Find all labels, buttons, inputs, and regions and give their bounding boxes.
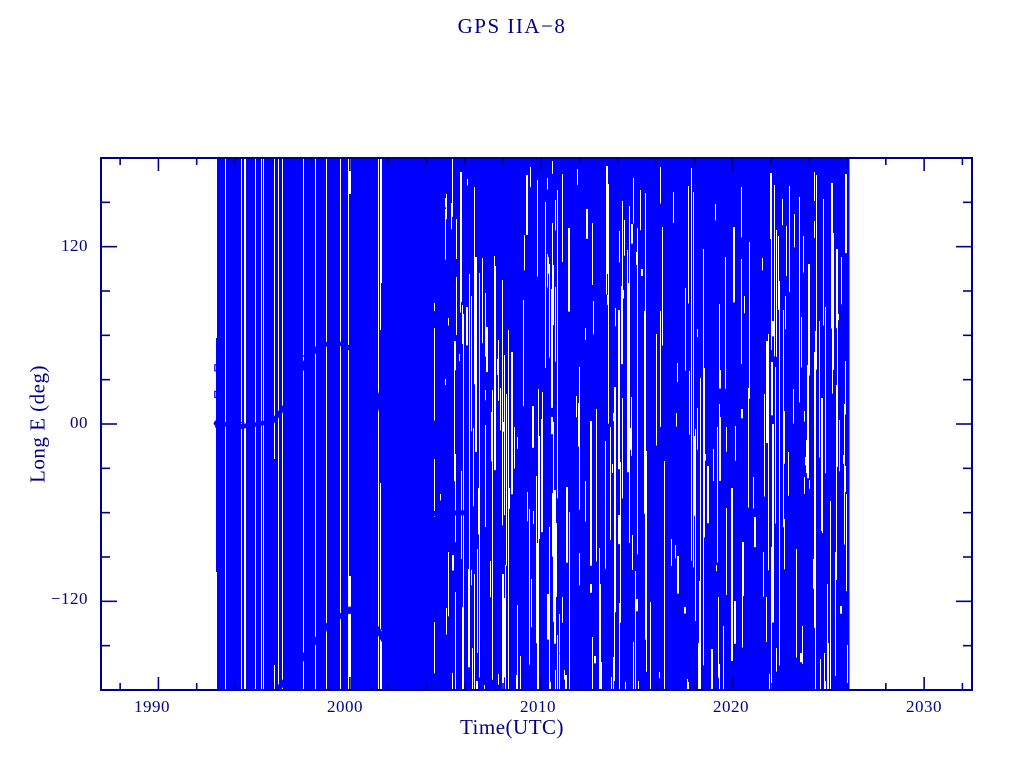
wrap-gap <box>472 648 473 690</box>
wrap-gap <box>615 308 616 326</box>
wrap-gap-long <box>492 390 493 680</box>
wrap-gap <box>726 508 727 595</box>
wrap-gap <box>689 371 690 435</box>
wrap-gap <box>784 411 785 464</box>
wrap-gap <box>577 169 578 185</box>
plot-canvas: GPS IIA−8 Long E (deg) Time(UTC) 120 00 … <box>0 0 1024 768</box>
wrap-gap <box>474 187 475 384</box>
wrap-gap <box>718 597 719 678</box>
wrap-gap <box>835 552 836 676</box>
wrap-gap <box>448 318 449 325</box>
wrap-gap <box>445 198 446 207</box>
wrap-gap <box>753 477 754 509</box>
wrap-gap <box>445 211 446 235</box>
wrap-stroke <box>330 158 331 690</box>
wrap-gap <box>741 409 743 418</box>
wrap-gap <box>562 597 563 623</box>
wrap-gap <box>618 515 620 544</box>
wrap-gap <box>502 574 504 690</box>
wrap-gap <box>809 480 810 489</box>
wrap-gap <box>562 174 563 262</box>
wrap-stroke-cluster <box>290 158 291 690</box>
wrap-gap-long <box>700 378 701 606</box>
wrap-gap <box>547 594 549 640</box>
wrap-stroke-cluster <box>320 158 321 690</box>
wrap-stroke <box>336 158 338 690</box>
wrap-stroke-cluster <box>298 158 299 690</box>
wrap-gap <box>656 334 657 445</box>
wrap-gap <box>772 321 774 336</box>
wrap-stroke-cluster <box>424 158 426 690</box>
wrap-stroke <box>334 429 335 690</box>
wrap-gap <box>586 209 588 239</box>
wrap-gap <box>611 677 612 690</box>
wrap-gap <box>448 552 449 616</box>
wrap-gap <box>551 417 553 434</box>
wrap-gap <box>660 167 661 204</box>
wrap-gap <box>662 227 663 327</box>
wrap-stroke <box>302 158 303 690</box>
wrap-gap-long <box>471 296 472 431</box>
wrap-gap <box>593 301 594 334</box>
wrap-gap <box>467 179 468 185</box>
wrap-gap <box>619 603 620 690</box>
wrap-gap <box>554 490 556 644</box>
wrap-gap-long <box>779 281 780 666</box>
wrap-stroke-cluster <box>428 158 429 690</box>
wrap-stroke-cluster <box>286 158 287 690</box>
wrap-gap <box>594 656 596 663</box>
wrap-gap <box>516 675 517 690</box>
wrap-gap <box>494 256 495 320</box>
wrap-stroke-cluster <box>400 158 401 690</box>
wrap-gap <box>719 664 720 690</box>
wrap-gap <box>632 535 633 570</box>
wrap-gap <box>497 359 498 375</box>
wrap-stroke-cluster <box>415 158 416 690</box>
wrap-gap-long <box>783 310 784 527</box>
wrap-gap <box>514 427 515 469</box>
wrap-stroke <box>349 194 351 576</box>
wrap-stroke <box>426 158 427 690</box>
wrap-gap <box>559 654 560 690</box>
wrap-gap <box>434 622 435 673</box>
wrap-stroke <box>414 158 415 690</box>
wrap-gap <box>434 459 435 517</box>
wrap-gap <box>485 425 486 527</box>
wrap-stroke <box>308 158 310 690</box>
wrap-stroke-cluster <box>396 158 397 690</box>
wrap-stroke <box>321 342 322 557</box>
wrap-gap <box>614 657 615 672</box>
wrap-stroke <box>341 158 342 690</box>
wrap-gap <box>506 394 507 566</box>
wrap-gap-long <box>463 314 464 690</box>
wrap-stroke-cluster <box>422 158 423 690</box>
wrap-gap <box>633 642 634 690</box>
wrap-stroke <box>343 158 344 690</box>
wrap-gap <box>733 227 735 302</box>
wrap-gap <box>813 559 814 589</box>
wrap-gap <box>553 422 554 622</box>
wrap-gap-long <box>629 206 630 543</box>
wrap-gap <box>585 481 586 521</box>
wrap-gap-long <box>645 193 646 640</box>
wrap-gap <box>445 379 446 385</box>
wrap-gap <box>474 574 475 690</box>
wrap-gap <box>771 565 772 690</box>
wrap-gap <box>754 517 756 547</box>
wrap-stroke-cluster <box>404 158 405 690</box>
wrap-gap <box>569 512 570 690</box>
wrap-gap-long <box>538 389 539 690</box>
wrap-stroke-cluster <box>270 158 271 690</box>
wrap-gap <box>806 440 808 473</box>
wrap-stroke <box>335 158 336 690</box>
wrap-gap <box>712 668 713 690</box>
wrap-stroke <box>358 467 359 690</box>
wrap-stroke <box>277 158 278 690</box>
wrap-gap <box>549 527 550 690</box>
wrap-gap-long <box>768 334 769 570</box>
wrap-gap <box>537 180 538 277</box>
wrap-stroke <box>287 158 288 690</box>
wrap-stroke-cluster <box>312 158 313 690</box>
wrap-gap <box>833 233 834 370</box>
wrap-gap-long <box>479 273 480 677</box>
wrap-stroke-cluster <box>423 158 424 690</box>
wrap-gap <box>504 355 505 515</box>
wrap-stroke <box>306 316 307 690</box>
wrap-stroke-cluster <box>271 158 272 690</box>
wrap-gap <box>452 158 453 217</box>
wrap-gap <box>469 274 470 452</box>
wrap-stroke-cluster <box>311 158 312 690</box>
wrap-stroke <box>328 158 329 690</box>
wrap-gap <box>799 197 800 304</box>
wrap-gap <box>517 437 518 449</box>
wrap-gap <box>766 341 768 443</box>
wrap-stroke <box>216 338 217 572</box>
wrap-gap <box>841 257 842 304</box>
wrap-stroke <box>379 158 380 690</box>
wrap-gap <box>578 403 580 446</box>
wrap-gap <box>526 175 528 235</box>
wrap-gap <box>556 523 557 597</box>
wrap-stroke-cluster <box>313 158 314 690</box>
wrap-gap <box>749 242 750 399</box>
wrap-gap <box>537 543 538 690</box>
wrap-stroke <box>281 158 282 690</box>
wrap-stroke-cluster <box>413 158 414 690</box>
wrap-gap <box>820 672 821 690</box>
wrap-gap <box>784 519 785 569</box>
wrap-gap <box>460 301 461 313</box>
wrap-gap <box>527 492 528 521</box>
wrap-gap <box>845 361 846 414</box>
wrap-gap <box>771 278 772 289</box>
wrap-gap <box>606 205 607 294</box>
wrap-gap <box>460 172 462 302</box>
wrap-stroke-cluster <box>285 158 286 690</box>
wrap-gap <box>717 427 718 562</box>
wrap-stroke <box>345 454 347 690</box>
wrap-gap <box>819 321 820 458</box>
wrap-gap <box>816 175 817 370</box>
wrap-stroke <box>310 158 311 690</box>
wrap-gap <box>446 608 447 635</box>
wrap-gap <box>830 501 831 690</box>
wrap-stroke-cluster <box>418 158 419 690</box>
wrap-gap <box>619 231 620 263</box>
wrap-stroke-cluster <box>322 158 323 690</box>
wrap-gap <box>434 303 435 311</box>
wrap-stroke <box>372 158 373 690</box>
wrap-gap <box>568 228 570 312</box>
wrap-gap <box>716 565 717 571</box>
wrap-gap <box>832 227 833 394</box>
wrap-gap <box>785 296 786 329</box>
wrap-gap <box>804 411 805 421</box>
wrap-gap <box>478 488 479 534</box>
wrap-gap <box>579 553 580 585</box>
wrap-gap <box>837 276 838 467</box>
wrap-gap <box>719 370 721 389</box>
wrap-gap <box>664 608 665 690</box>
wrap-gap <box>555 200 556 230</box>
wrap-gap-long <box>693 192 694 567</box>
wrap-gap <box>741 259 742 364</box>
wrap-gap <box>762 258 763 270</box>
wrap-gap <box>533 511 534 524</box>
wrap-gap <box>802 626 803 664</box>
wrap-gap-long <box>814 352 815 628</box>
wrap-gap <box>471 570 472 585</box>
wrap-gap <box>713 449 714 481</box>
wrap-stroke <box>299 272 300 690</box>
wrap-stroke <box>370 158 371 690</box>
wrap-stroke <box>333 158 334 690</box>
wrap-gap <box>452 673 453 690</box>
wrap-stroke-cluster <box>323 158 324 690</box>
wrap-gap <box>684 607 686 614</box>
wrap-gap <box>827 674 828 690</box>
wrap-gap <box>778 236 779 310</box>
wrap-stroke-cluster <box>393 158 394 690</box>
wrap-gap <box>662 325 663 346</box>
wrap-gap <box>607 295 608 305</box>
wrap-gap <box>793 389 794 423</box>
wrap-gap <box>503 422 504 432</box>
wrap-stroke <box>339 158 340 690</box>
wrap-stroke <box>279 158 280 690</box>
wrap-gap <box>555 670 556 690</box>
wrap-gap <box>742 542 744 596</box>
wrap-gap <box>676 413 677 427</box>
wrap-gap <box>434 335 435 355</box>
wrap-gap <box>764 394 765 497</box>
wrap-gap <box>640 190 641 230</box>
wrap-gap-long <box>836 385 837 580</box>
wrap-gap <box>789 186 790 292</box>
wrap-gap <box>677 363 678 382</box>
wrap-stroke <box>325 158 326 690</box>
wrap-gap <box>659 672 660 678</box>
wrap-gap <box>590 584 592 593</box>
wrap-gap <box>456 219 457 259</box>
wrap-stroke <box>338 158 339 690</box>
wrap-gap <box>805 457 806 465</box>
wrap-stroke-cluster <box>293 158 294 690</box>
wrap-gap <box>511 352 513 494</box>
wrap-gap <box>698 643 699 690</box>
wrap-gap <box>734 601 736 644</box>
wrap-gap-long <box>815 331 816 690</box>
wrap-stroke-cluster <box>395 158 396 690</box>
wrap-gap-long <box>775 367 776 524</box>
wrap-gap <box>631 397 632 456</box>
wrap-gap <box>618 310 620 469</box>
wrap-stroke <box>374 158 375 690</box>
wrap-gap <box>557 635 558 690</box>
wrap-gap <box>476 681 478 690</box>
wrap-gap <box>769 674 770 690</box>
wrap-gap <box>531 579 532 627</box>
wrap-gap <box>590 421 592 566</box>
wrap-gap <box>624 220 625 256</box>
wrap-stroke-cluster <box>427 158 428 690</box>
wrap-gap <box>671 539 672 566</box>
wrap-gap <box>542 392 543 504</box>
wrap-gap <box>509 488 510 509</box>
wrap-gap <box>446 194 447 219</box>
wrap-gap <box>482 258 483 343</box>
wrap-stroke-cluster <box>289 158 290 690</box>
wrap-stroke <box>274 459 275 665</box>
wrap-gap <box>552 493 553 557</box>
wrap-gap <box>677 556 679 594</box>
wrap-stroke <box>364 158 365 690</box>
wrap-gap <box>636 599 638 611</box>
wrap-stroke <box>331 469 332 638</box>
wrap-gap <box>459 354 460 361</box>
wrap-gap <box>548 257 549 274</box>
wrap-gap <box>565 675 567 690</box>
wrap-stroke-cluster <box>296 158 297 690</box>
wrap-stroke-cluster <box>295 158 296 690</box>
wrap-gap <box>633 178 634 223</box>
wrap-gap <box>744 296 745 313</box>
wrap-gap <box>627 250 628 320</box>
wrap-stroke <box>324 470 325 690</box>
wrap-stroke-cluster <box>288 158 289 690</box>
wrap-gap <box>786 226 787 276</box>
wrap-gap <box>726 427 727 452</box>
wrap-gap <box>772 457 773 577</box>
wrap-gap <box>650 602 651 690</box>
wrap-gap <box>475 257 477 452</box>
wrap-gap <box>731 488 733 661</box>
wrap-stroke <box>363 158 364 690</box>
wrap-stroke-cluster <box>411 158 412 690</box>
wrap-stroke-cluster <box>316 158 318 690</box>
wrap-gap <box>814 221 815 238</box>
wrap-gap <box>695 429 696 621</box>
wrap-gap <box>646 451 647 569</box>
wrap-stroke-cluster <box>421 158 422 690</box>
wrap-gap-long <box>552 223 553 403</box>
wrap-stroke <box>365 158 366 690</box>
wrap-stroke-cluster <box>273 158 274 690</box>
wrap-gap <box>545 202 546 368</box>
wrap-gap <box>688 186 689 303</box>
wrap-gap <box>596 409 597 561</box>
wrap-gap <box>592 223 593 285</box>
wrap-gap <box>466 307 468 345</box>
wrap-gap <box>735 426 736 461</box>
wrap-gap <box>776 648 777 672</box>
wrap-stroke <box>344 158 345 690</box>
wrap-gap <box>828 643 829 690</box>
wrap-gap-long <box>691 168 692 561</box>
wrap-gap <box>838 314 839 320</box>
wrap-gap <box>697 420 698 450</box>
wrap-gap <box>821 398 823 531</box>
wrap-gap <box>566 487 568 563</box>
wrap-gap <box>530 167 531 187</box>
wrap-gap <box>763 552 764 597</box>
wrap-gap <box>771 362 773 415</box>
wrap-gap <box>636 252 637 265</box>
wrap-gap <box>844 404 845 545</box>
wrap-gap <box>846 508 847 521</box>
wrap-gap-long <box>637 228 638 554</box>
wrap-gap-long <box>703 249 704 665</box>
wrap-gap <box>613 413 615 421</box>
wrap-gap <box>599 548 600 592</box>
wrap-gap <box>723 664 724 690</box>
wrap-gap <box>685 288 686 371</box>
wrap-stroke <box>375 158 376 690</box>
wrap-stroke-cluster <box>412 158 413 690</box>
wrap-gap <box>547 254 548 287</box>
wrap-gap <box>502 280 503 525</box>
wrap-gap <box>529 509 530 665</box>
wrap-stroke <box>357 185 358 508</box>
wrap-stroke-cluster <box>297 158 298 690</box>
wrap-gap <box>555 287 556 362</box>
wrap-gap <box>839 420 840 471</box>
wrap-gap <box>809 309 810 327</box>
wrap-gap <box>455 592 456 690</box>
wrap-gap <box>845 466 846 492</box>
wrap-gap <box>687 679 688 690</box>
wrap-gap <box>576 396 577 417</box>
wrap-gap <box>697 329 698 337</box>
wrap-gap <box>517 605 518 690</box>
wrap-stroke-cluster <box>275 158 277 690</box>
wrap-gap <box>462 305 463 344</box>
wrap-stroke-cluster <box>419 158 420 690</box>
wrap-gap-long <box>825 330 826 473</box>
wrap-gap <box>824 653 825 690</box>
wrap-gap-long <box>776 230 777 357</box>
wrap-gap <box>440 494 441 500</box>
wrap-gap <box>621 286 623 364</box>
wrap-gap <box>631 224 633 244</box>
wrap-stroke <box>377 158 378 690</box>
wrap-gap <box>715 204 716 220</box>
